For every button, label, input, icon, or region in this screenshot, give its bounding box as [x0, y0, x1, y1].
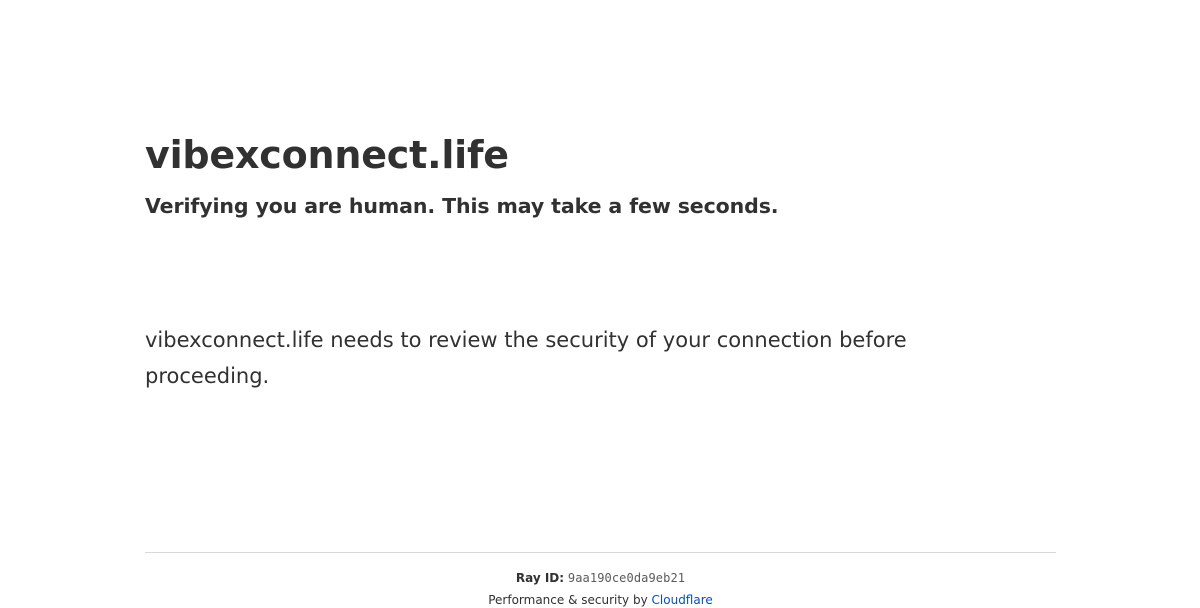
challenge-page: vibexconnect.life Verifying you are huma…	[0, 0, 1200, 600]
verification-status-text: Verifying you are human. This may take a…	[145, 192, 779, 220]
cloudflare-link[interactable]: Cloudflare	[652, 593, 713, 607]
attribution-prefix: Performance & security by	[488, 593, 647, 607]
turnstile-widget-slot[interactable]	[145, 238, 445, 308]
security-review-description: vibexconnect.life needs to review the se…	[145, 322, 945, 394]
page-title: vibexconnect.life	[145, 132, 509, 178]
ray-id-value: 9aa190ce0da9eb21	[568, 571, 685, 585]
ray-id-line: Ray ID: 9aa190ce0da9eb21	[145, 570, 1056, 586]
ray-id-label: Ray ID:	[516, 571, 564, 585]
attribution-line: Performance & security by Cloudflare	[145, 592, 1056, 608]
